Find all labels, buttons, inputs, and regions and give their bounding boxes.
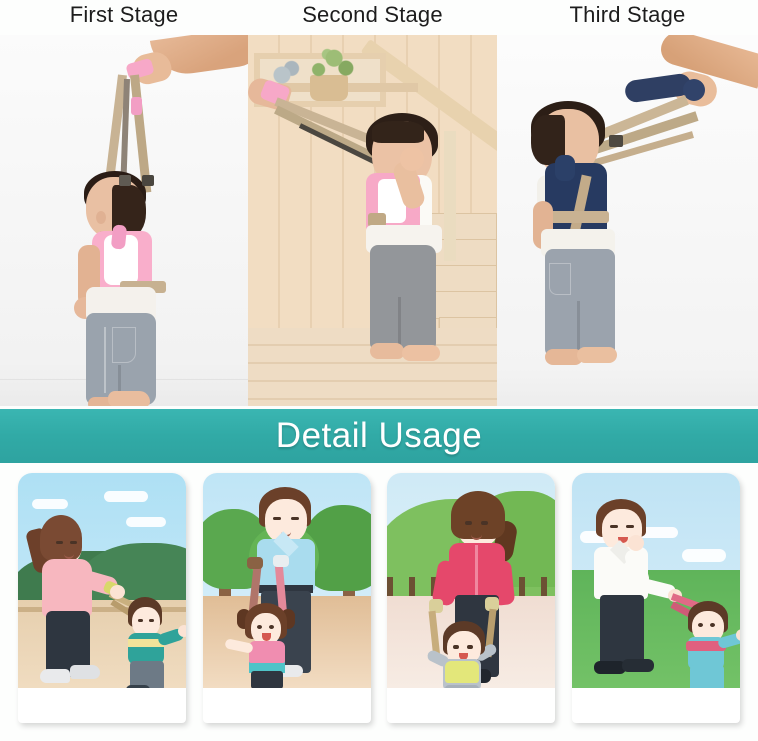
harness-grip-left: [247, 557, 263, 569]
mother-shoe-left: [40, 669, 70, 683]
stage-title-third: Third Stage: [497, 0, 758, 34]
usage-illustration-3: [387, 473, 555, 688]
child-pants: [445, 685, 479, 688]
strap-buckle-right: [142, 175, 154, 186]
third-stage-photo: [497, 35, 758, 406]
child-eye-left: [698, 623, 703, 627]
cloud-icon: [126, 517, 166, 527]
cloud-icon: [682, 549, 726, 562]
jacket-zipper: [475, 545, 478, 597]
stage-title-first: First Stage: [0, 0, 248, 34]
child-eye-right: [149, 619, 154, 622]
first-stage-photo: [0, 35, 248, 406]
strap-buckle-left: [119, 175, 131, 186]
detail-usage-banner: Detail Usage: [0, 409, 758, 463]
strap-buckle-right: [609, 135, 623, 147]
mother-eye-left: [56, 541, 63, 544]
mother-eye-left: [465, 521, 472, 525]
child-hand: [178, 625, 186, 637]
pants-pocket: [549, 263, 571, 295]
child-bangs: [372, 121, 424, 143]
girl-mouth: [262, 633, 271, 641]
usage-card-4: [572, 473, 740, 723]
banner-title: Detail Usage: [276, 416, 482, 456]
father-eye-left: [273, 517, 281, 520]
child-harness-bib: [445, 661, 479, 683]
child-ear: [96, 211, 106, 224]
child-pants: [370, 245, 436, 351]
stage-photo-row: [0, 35, 758, 406]
father-eye-right: [291, 517, 299, 520]
second-stage-photo: [248, 35, 497, 406]
child-eye-right: [467, 645, 473, 649]
stair-railing-post: [444, 131, 456, 261]
harness-belt-strap: [545, 211, 609, 223]
father-pants: [600, 595, 644, 669]
usage-illustration-2: [203, 473, 371, 688]
mother-hair: [40, 515, 82, 561]
mother-eye-right: [70, 541, 77, 544]
child-pants: [130, 661, 164, 688]
usage-card-2: [203, 473, 371, 723]
girl-harness-vest: [249, 641, 285, 663]
mother-hair: [451, 491, 505, 539]
potted-plant: [300, 43, 362, 81]
mother-eye-right: [481, 521, 488, 525]
child-pants: [690, 665, 724, 688]
pants-pocket: [112, 327, 136, 363]
stage-title-second: Second Stage: [248, 0, 497, 34]
father-shoe-right: [622, 659, 654, 672]
mother-shoe-right: [70, 665, 100, 679]
usage-card-3: [387, 473, 555, 723]
cloud-icon: [104, 491, 148, 502]
father-eye-left: [610, 525, 618, 528]
usage-card-1: [18, 473, 186, 723]
girl-eye-right: [269, 625, 274, 629]
usage-illustration-1: [18, 473, 186, 688]
cloud-icon: [32, 499, 68, 509]
girl-shorts: [251, 671, 283, 688]
child-shoe: [126, 685, 150, 688]
usage-illustration-4: [572, 473, 740, 688]
strap-buckle-top: [131, 97, 142, 115]
stair-step: [427, 291, 497, 319]
mother-hand: [110, 585, 125, 599]
usage-cards-row: [0, 473, 758, 741]
child-foot-left: [370, 343, 404, 359]
harness-grip-right: [273, 555, 289, 567]
child-foot-right: [577, 347, 617, 363]
child-eye-right: [710, 623, 715, 627]
stage-titles-row: First Stage Second Stage Third Stage: [0, 0, 758, 34]
father-hand-raised: [628, 535, 644, 551]
harness-shoulder-strap: [555, 155, 575, 181]
father-eye-right: [626, 525, 634, 528]
child-foot-front: [108, 391, 150, 406]
girl-eye-left: [257, 625, 262, 629]
child-foot-right: [402, 345, 440, 361]
pants-pleat: [104, 327, 106, 393]
child-eye-left: [453, 645, 459, 649]
child-eye-left: [138, 619, 143, 622]
child-hand: [400, 147, 424, 171]
